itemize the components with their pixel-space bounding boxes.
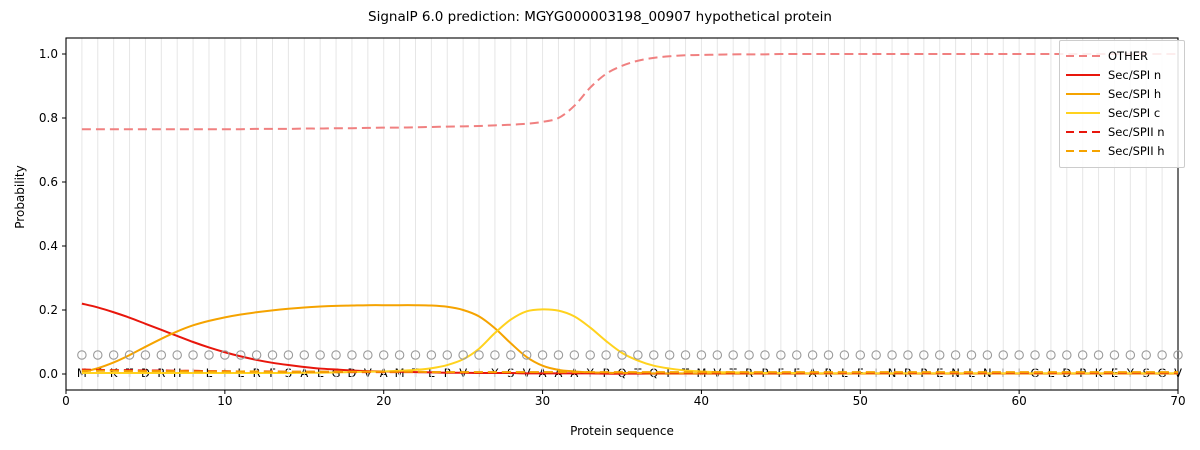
signalp-prediction-figure: SignalP 6.0 prediction: MGYG000003198_00…: [0, 0, 1200, 450]
legend-item[interactable]: Sec/SPI h: [1066, 84, 1178, 103]
legend-item[interactable]: Sec/SPI c: [1066, 103, 1178, 122]
series-line-sec-spii-h: [82, 371, 1178, 372]
series-line-other: [82, 54, 1178, 129]
legend-item[interactable]: Sec/SPII h: [1066, 141, 1178, 160]
legend-item-label: Sec/SPI n: [1100, 68, 1161, 82]
legend-color-swatch: [1066, 107, 1100, 119]
legend-item-label: Sec/SPI h: [1100, 87, 1161, 101]
legend-item[interactable]: Sec/SPI n: [1066, 65, 1178, 84]
chart-legend: OTHERSec/SPI nSec/SPI hSec/SPI cSec/SPII…: [1059, 40, 1185, 168]
legend-item[interactable]: Sec/SPII n: [1066, 122, 1178, 141]
plot-canvas: [0, 0, 1200, 450]
legend-item-label: Sec/SPII n: [1100, 125, 1165, 139]
legend-color-swatch: [1066, 126, 1100, 138]
legend-color-swatch: [1066, 145, 1100, 157]
legend-item-label: Sec/SPII h: [1100, 144, 1165, 158]
legend-color-swatch: [1066, 88, 1100, 100]
series-line-sec-spi-c: [82, 309, 1178, 373]
series-line-sec-spi-h: [82, 305, 1178, 373]
legend-item-label: Sec/SPI c: [1100, 106, 1160, 120]
legend-item-label: OTHER: [1100, 49, 1148, 63]
legend-color-swatch: [1066, 50, 1100, 62]
legend-item[interactable]: OTHER: [1066, 46, 1178, 65]
legend-color-swatch: [1066, 69, 1100, 81]
